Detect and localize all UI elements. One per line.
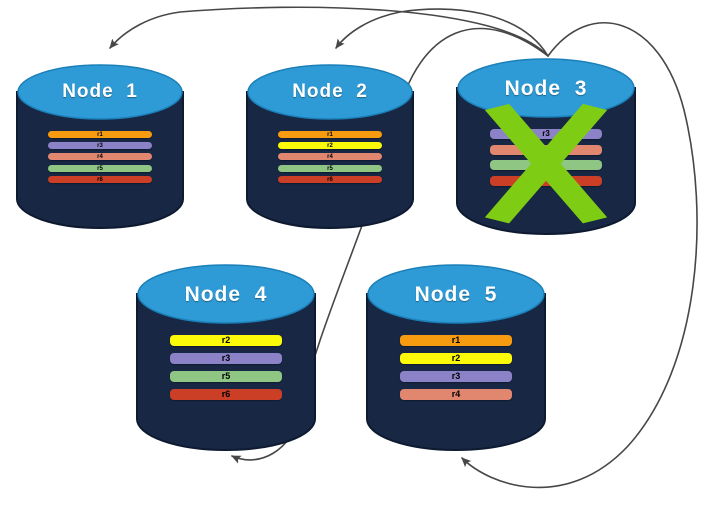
replica-bar[interactable]: r6 — [278, 176, 382, 183]
replica-bar[interactable]: r3 — [490, 129, 602, 139]
replica-bar[interactable]: r1 — [400, 335, 512, 346]
database-node[interactable]: Node 2r1r2r4r5r6 — [246, 62, 414, 230]
replica-bar[interactable]: r2 — [278, 142, 382, 149]
node-title: Node 4 — [136, 283, 316, 307]
replica-bar[interactable]: r5 — [278, 165, 382, 172]
node-title: Node 3 — [456, 77, 636, 101]
replica-bar[interactable] — [490, 145, 602, 155]
node-title: Node 1 — [16, 81, 184, 103]
replica-bar[interactable] — [490, 160, 602, 170]
diagram-canvas: Node 1r1r3r4r5r6Node 2r1r2r4r5r6Node 3r3… — [0, 0, 708, 508]
database-node[interactable]: Node 4r2r3r5r6 — [136, 262, 316, 452]
database-node[interactable]: Node 1r1r3r4r5r6 — [16, 62, 184, 230]
database-node[interactable]: Node 5r1r2r3r4 — [366, 262, 546, 452]
replica-bar[interactable]: r5 — [170, 371, 282, 382]
database-node[interactable]: Node 3r3 — [456, 56, 636, 236]
replica-bar[interactable]: r4 — [278, 153, 382, 160]
replica-bar[interactable]: r4 — [400, 389, 512, 400]
node-title: Node 2 — [246, 81, 414, 103]
replica-bar[interactable]: r3 — [48, 142, 152, 149]
replica-bar[interactable]: r2 — [400, 353, 512, 364]
replica-bar[interactable]: r1 — [48, 131, 152, 138]
replica-bar[interactable]: r1 — [278, 131, 382, 138]
edge-arrow — [336, 9, 548, 56]
replica-bar[interactable]: r2 — [170, 335, 282, 346]
replica-bar[interactable]: r5 — [48, 165, 152, 172]
replica-bar[interactable]: r3 — [400, 371, 512, 382]
replica-bar[interactable]: r6 — [170, 389, 282, 400]
node-title: Node 5 — [366, 283, 546, 307]
replica-bar[interactable] — [490, 176, 602, 186]
replica-bar[interactable]: r4 — [48, 153, 152, 160]
edge-arrow — [110, 7, 548, 56]
replica-bar[interactable]: r3 — [170, 353, 282, 364]
replica-bar[interactable]: r6 — [48, 176, 152, 183]
